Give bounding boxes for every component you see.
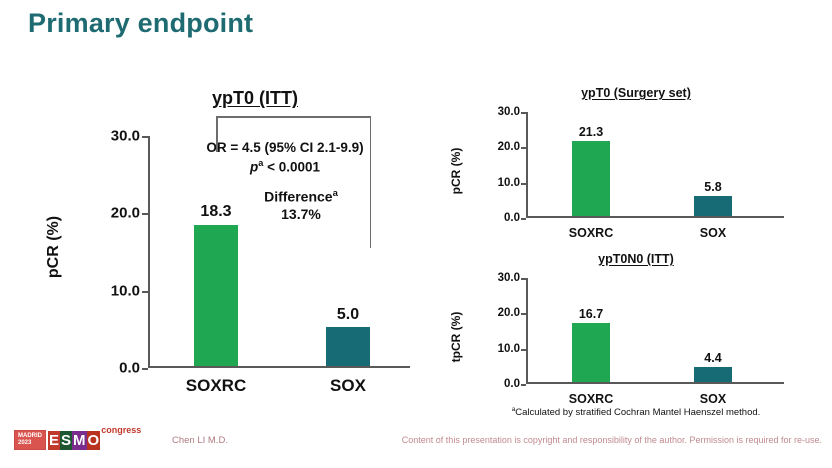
category-label-sox-bottom-right: SOX	[700, 392, 726, 406]
bar-value-sox-bottom-right: 4.4	[704, 351, 721, 365]
page-title: Primary endpoint	[28, 8, 253, 39]
y-tick-label-20-tr: 20.0	[498, 141, 520, 153]
chart-title-top-right: ypT0 (Surgery set)	[490, 86, 782, 100]
plot-area-main: 30.0 20.0 10.0 0.0 18.3 5.0	[148, 136, 410, 368]
y-tick-label-30-tr: 30.0	[498, 106, 520, 118]
category-label-soxrc-bottom-right: SOXRC	[569, 392, 613, 406]
y-tick-label-10-tr: 10.0	[498, 177, 520, 189]
bracket-left-drop	[216, 116, 218, 152]
plot-area-bottom-right: 30.0 20.0 10.0 0.0 16.7 4.4	[526, 278, 784, 384]
y-tick-30-br	[521, 278, 526, 280]
y-tick-30	[142, 136, 148, 138]
x-axis-bottom-right	[526, 382, 784, 384]
category-label-sox-main: SOX	[330, 376, 366, 396]
bar-soxrc-bottom-right	[572, 323, 610, 382]
y-tick-0	[142, 368, 148, 370]
y-tick-label-30-br: 30.0	[498, 272, 520, 284]
y-tick-20	[142, 213, 148, 215]
presenter-name: Chen LI M.D.	[172, 435, 228, 446]
y-axis-label-main: pCR (%)	[45, 187, 63, 307]
chart-title-main: ypT0 (ITT)	[90, 88, 420, 109]
bar-sox-top-right	[694, 196, 732, 217]
y-tick-label-10-br: 10.0	[498, 343, 520, 355]
copyright-notice: Content of this presentation is copyrigh…	[402, 435, 822, 445]
category-label-sox-top-right: SOX	[700, 226, 726, 240]
madrid-2023-badge: MADRID 2023	[14, 430, 46, 450]
y-tick-20-tr	[521, 147, 526, 149]
y-tick-label-0: 0.0	[119, 360, 140, 377]
y-tick-30-tr	[521, 112, 526, 114]
bar-sox-bottom-right	[694, 367, 732, 383]
y-tick-label-10: 10.0	[111, 282, 140, 299]
x-axis-main	[148, 366, 410, 368]
y-axis-top-right	[526, 112, 528, 218]
y-tick-10	[142, 291, 148, 293]
bar-value-sox-main: 5.0	[337, 306, 359, 324]
bar-sox-main	[326, 327, 370, 366]
madrid-line-1: MADRID	[18, 433, 42, 440]
y-tick-0-br	[521, 384, 526, 386]
chart-primary-ypt0-itt: ypT0 (ITT) OR = 4.5 (95% CI 2.1-9.9) pa …	[30, 88, 430, 408]
esmo-letter-e: E	[48, 431, 60, 450]
x-axis-top-right	[526, 216, 784, 218]
footnote: aCalculated by stratified Cochran Mantel…	[450, 406, 822, 418]
chart-ypt0n0-itt: ypT0N0 (ITT) 30.0 20.0 10.0 0.0 16.7 4.4…	[450, 252, 822, 424]
congress-wordmark: congress	[101, 425, 141, 435]
chart-ypt0-surgery-set: ypT0 (Surgery set) 30.0 20.0 10.0 0.0 21…	[450, 86, 822, 258]
y-tick-label-0-br: 0.0	[504, 378, 520, 390]
bracket-horizontal	[216, 116, 371, 118]
bar-soxrc-main	[194, 225, 238, 367]
esmo-wordmark: ESMO	[48, 431, 100, 450]
significance-bracket	[216, 116, 371, 248]
madrid-line-2: 2023	[18, 440, 42, 447]
slide-footer: MADRID 2023 ESMO congress Chen LI M.D. C…	[0, 422, 832, 468]
bar-soxrc-top-right	[572, 141, 610, 216]
y-axis-main	[148, 136, 150, 368]
y-axis-label-bottom-right: tpCR (%)	[449, 289, 463, 385]
y-tick-0-tr	[521, 218, 526, 220]
bracket-right-drop	[370, 116, 372, 248]
y-tick-label-20: 20.0	[111, 205, 140, 222]
y-axis-label-top-right: pCR (%)	[449, 123, 463, 219]
esmo-letter-m: M	[72, 431, 87, 450]
esmo-letter-s: S	[60, 431, 72, 450]
y-tick-label-20-br: 20.0	[498, 307, 520, 319]
esmo-letter-o: O	[87, 431, 101, 450]
plot-area-top-right: 30.0 20.0 10.0 0.0 21.3 5.8	[526, 112, 784, 218]
esmo-congress-logo: MADRID 2023 ESMO congress	[14, 428, 141, 450]
category-label-soxrc-top-right: SOXRC	[569, 226, 613, 240]
slide: Primary endpoint ypT0 (ITT) OR = 4.5 (95…	[0, 0, 832, 468]
y-tick-label-30: 30.0	[111, 128, 140, 145]
category-label-soxrc-main: SOXRC	[186, 376, 246, 396]
y-axis-bottom-right	[526, 278, 528, 384]
bar-value-soxrc-bottom-right: 16.7	[579, 307, 603, 321]
bar-value-soxrc-top-right: 21.3	[579, 125, 603, 139]
bar-value-sox-top-right: 5.8	[704, 180, 721, 194]
chart-title-bottom-right: ypT0N0 (ITT)	[490, 252, 782, 266]
bar-value-soxrc-main: 18.3	[200, 203, 231, 221]
y-tick-10-tr	[521, 183, 526, 185]
y-tick-10-br	[521, 349, 526, 351]
y-tick-label-0-tr: 0.0	[504, 212, 520, 224]
y-tick-20-br	[521, 313, 526, 315]
footnote-text: Calculated by stratified Cochran Mantel …	[515, 407, 760, 418]
